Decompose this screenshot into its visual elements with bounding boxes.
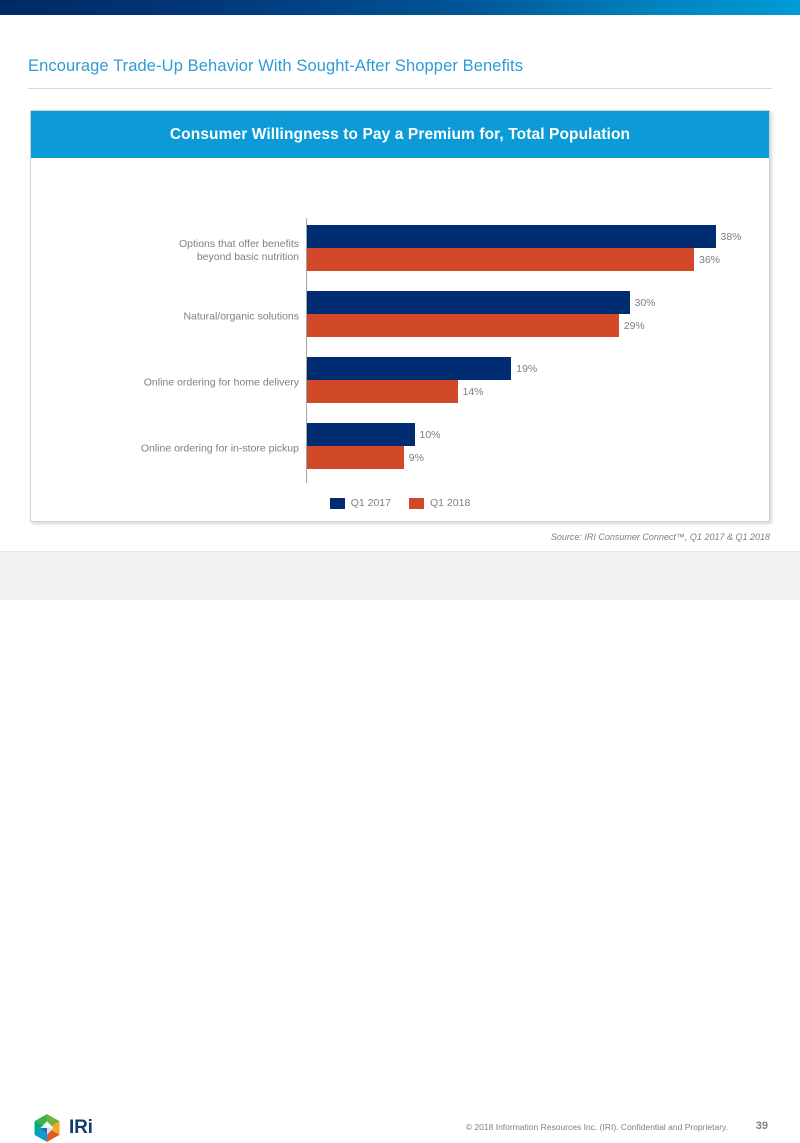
iri-logo: IRi xyxy=(32,1113,93,1143)
legend-item-q1-2018[interactable]: Q1 2018 xyxy=(409,497,470,509)
bar-row: 30% xyxy=(307,291,656,314)
bar-q1-2018[interactable] xyxy=(307,248,694,271)
category-label-line: Online ordering for in-store pickup xyxy=(69,443,299,456)
legend-label: Q1 2017 xyxy=(351,497,391,509)
bar-q1-2017[interactable] xyxy=(307,291,630,314)
page-title: Encourage Trade-Up Behavior With Sought-… xyxy=(28,57,772,76)
bar-row: 10% xyxy=(307,423,441,446)
category-label: Options that offer benefitsbeyond basic … xyxy=(69,238,299,264)
bar-row: 38% xyxy=(307,225,742,248)
slide-footer: IRi © 2018 Information Resources Inc. (I… xyxy=(0,552,800,600)
chart-legend: Q1 2017 Q1 2018 xyxy=(31,497,769,509)
bar-group-list: Options that offer benefitsbeyond basic … xyxy=(31,218,769,482)
bar-row: 29% xyxy=(307,314,645,337)
bar-value-label: 10% xyxy=(420,429,441,441)
legend-label: Q1 2018 xyxy=(430,497,470,509)
iri-cube-logo-icon xyxy=(32,1113,62,1143)
chart-panel: Consumer Willingness to Pay a Premium fo… xyxy=(30,110,770,522)
bar-value-label: 19% xyxy=(516,363,537,375)
legend-swatch-icon xyxy=(409,498,424,509)
bar-value-label: 38% xyxy=(721,231,742,243)
title-divider xyxy=(28,88,772,89)
bar-group: Online ordering for home delivery19%14% xyxy=(31,350,769,416)
footer-copyright: © 2018 Information Resources Inc. (IRI).… xyxy=(466,1122,728,1132)
category-label: Online ordering for in-store pickup xyxy=(69,443,299,456)
iri-logo-text: IRi xyxy=(69,1117,93,1139)
bar-value-label: 29% xyxy=(624,320,645,332)
bar-q1-2017[interactable] xyxy=(307,423,415,446)
bar-value-label: 14% xyxy=(463,386,484,398)
bar-value-label: 36% xyxy=(699,254,720,266)
bar-q1-2018[interactable] xyxy=(307,314,619,337)
category-label-line: beyond basic nutrition xyxy=(69,251,299,264)
bar-group: Natural/organic solutions30%29% xyxy=(31,284,769,350)
chart-plot-area: Options that offer benefitsbeyond basic … xyxy=(31,158,769,523)
bar-q1-2018[interactable] xyxy=(307,380,458,403)
legend-item-q1-2017[interactable]: Q1 2017 xyxy=(330,497,391,509)
source-note: Source: IRI Consumer Connect™, Q1 2017 &… xyxy=(551,532,770,542)
chart-header: Consumer Willingness to Pay a Premium fo… xyxy=(31,111,769,158)
bar-q1-2017[interactable] xyxy=(307,357,511,380)
category-label-line: Online ordering for home delivery xyxy=(69,377,299,390)
bar-row: 36% xyxy=(307,248,720,271)
bar-row: 9% xyxy=(307,446,424,469)
bar-group: Online ordering for in-store pickup10%9% xyxy=(31,416,769,482)
bar-q1-2018[interactable] xyxy=(307,446,404,469)
bar-q1-2017[interactable] xyxy=(307,225,716,248)
category-label-line: Options that offer benefits xyxy=(69,238,299,251)
bar-row: 19% xyxy=(307,357,537,380)
page-number: 39 xyxy=(756,1120,768,1132)
bar-row: 14% xyxy=(307,380,484,403)
category-label: Natural/organic solutions xyxy=(69,311,299,324)
bar-value-label: 9% xyxy=(409,452,424,464)
top-gradient-band xyxy=(0,0,800,15)
category-label: Online ordering for home delivery xyxy=(69,377,299,390)
legend-swatch-icon xyxy=(330,498,345,509)
category-label-line: Natural/organic solutions xyxy=(69,311,299,324)
bar-group: Options that offer benefitsbeyond basic … xyxy=(31,218,769,284)
chart-title: Consumer Willingness to Pay a Premium fo… xyxy=(170,126,630,144)
bar-value-label: 30% xyxy=(635,297,656,309)
